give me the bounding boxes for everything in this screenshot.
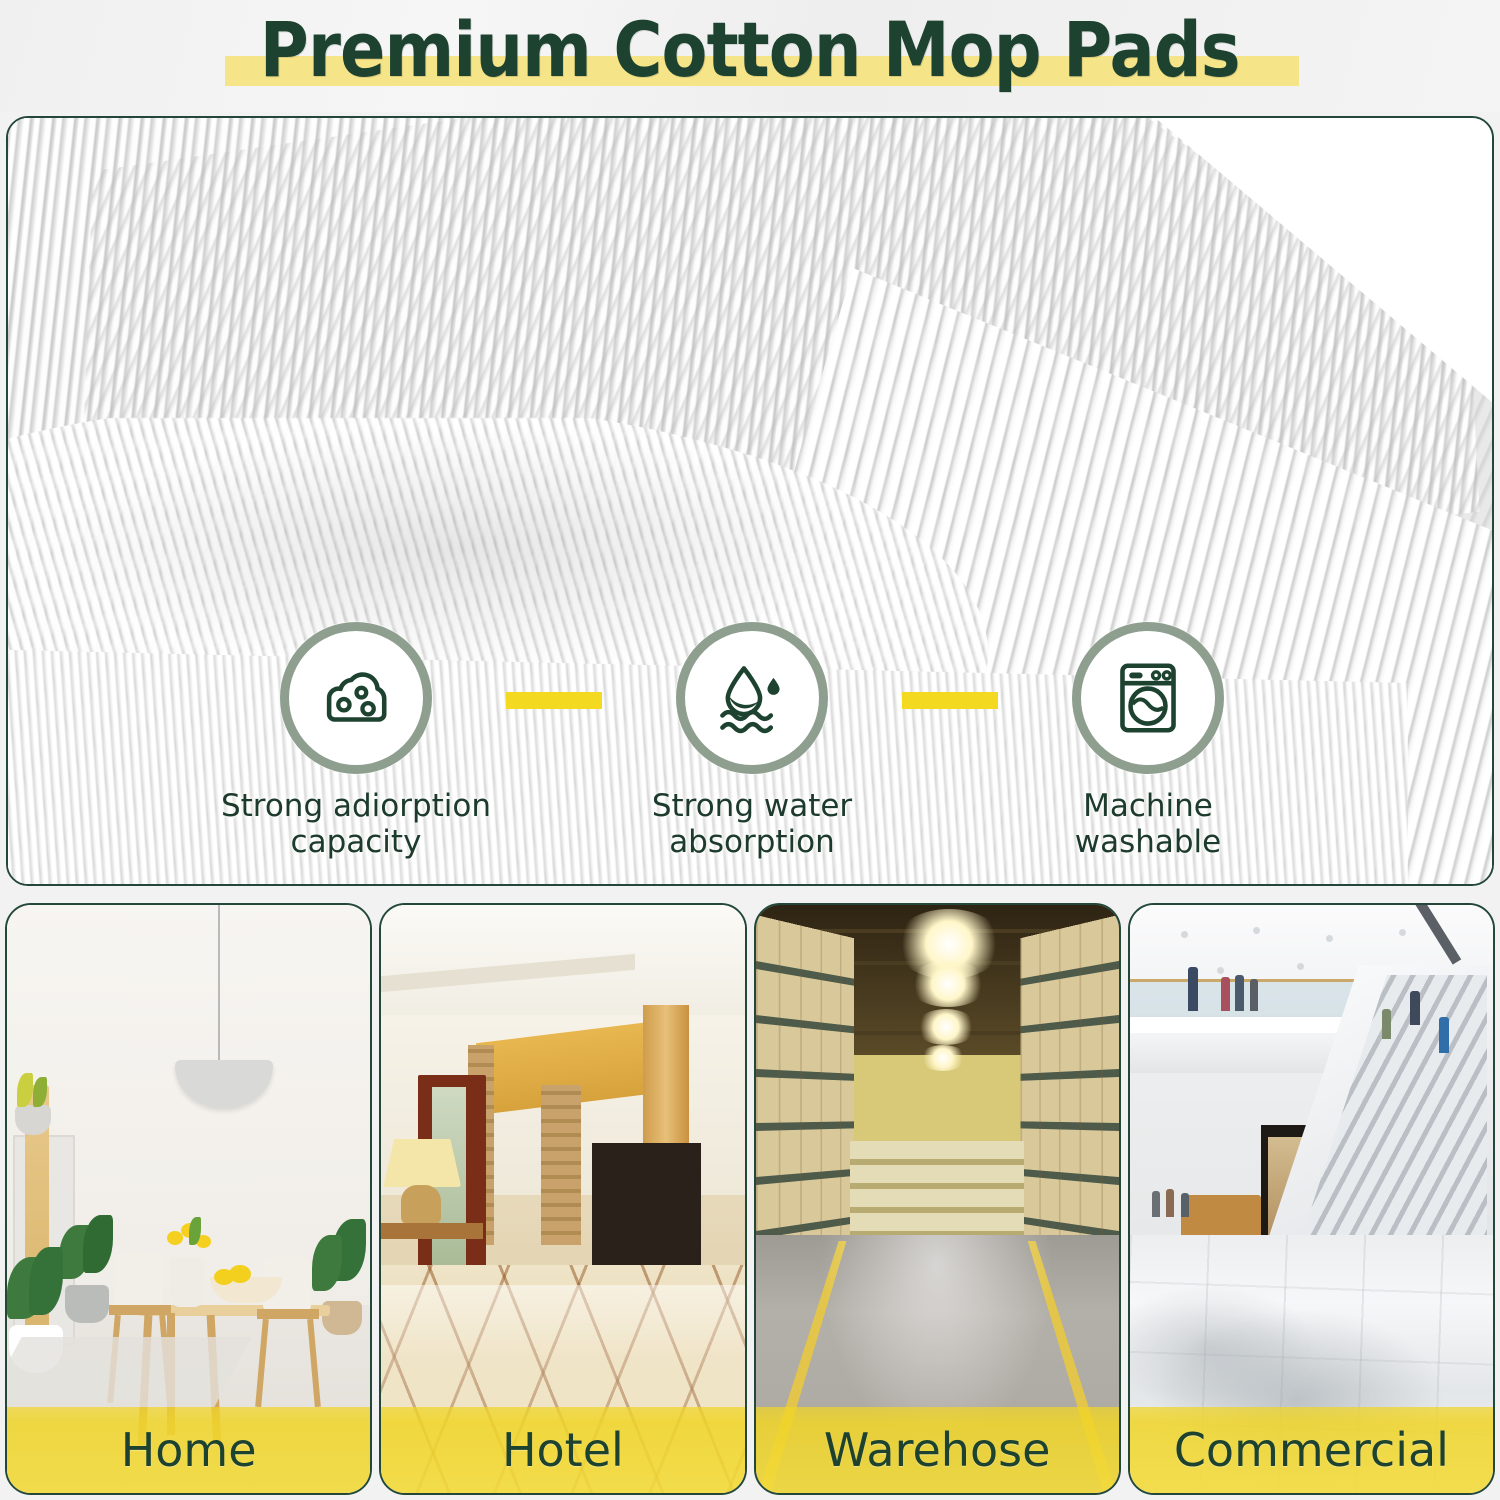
sponge-icon [313,655,399,741]
page-title: Premium Cotton Mop Pads [260,2,1240,98]
washing-machine-icon [1105,655,1191,741]
feature-connector-2 [902,692,998,709]
feature-label: Machine washable [1075,788,1222,860]
home-scene-image [7,905,370,1493]
feature-icon-circle [676,622,828,774]
use-case-label: Warehose [756,1407,1119,1493]
water-drop-icon [709,655,795,741]
hotel-scene-image [381,905,744,1493]
feature-row: Strong adiorption capacity Strong water … [8,622,1494,882]
feature-water-absorption: Strong water absorption [602,622,902,860]
use-case-card-commercial[interactable]: Commercial [1128,903,1495,1495]
feature-label: Strong water absorption [652,788,852,860]
feature-label: Strong adiorption capacity [221,788,491,860]
use-case-label: Hotel [381,1407,744,1493]
use-case-card-warehouse[interactable]: Warehose [754,903,1121,1495]
page-header: Premium Cotton Mop Pads [0,0,1500,112]
warehouse-scene-image [756,905,1119,1493]
feature-machine-washable: Machine washable [998,622,1298,860]
title-wrap: Premium Cotton Mop Pads [193,2,1306,98]
feature-icon-circle [280,622,432,774]
feature-strong-adsorption: Strong adiorption capacity [206,622,506,860]
feature-icon-circle [1072,622,1224,774]
hero-product-panel: Strong adiorption capacity Strong water … [6,116,1494,886]
feature-connector-1 [506,692,602,709]
use-case-card-home[interactable]: Home [5,903,372,1495]
use-case-label: Home [7,1407,370,1493]
use-case-card-row: Home Hotel [5,903,1495,1495]
use-case-label: Commercial [1130,1407,1493,1493]
commercial-scene-image [1130,905,1493,1493]
use-case-card-hotel[interactable]: Hotel [379,903,746,1495]
